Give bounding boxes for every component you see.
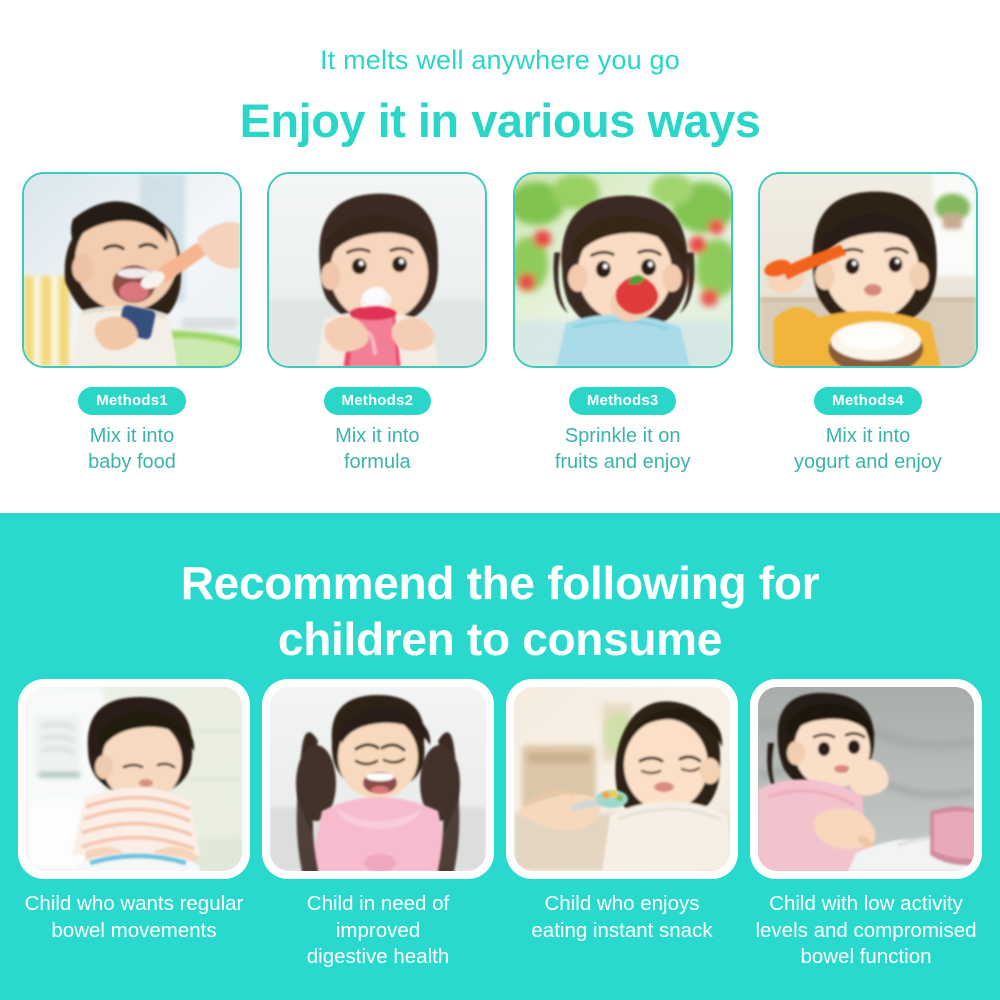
baby-spoon-feeding-illustration	[24, 174, 240, 366]
girl-laptop-couch-illustration	[758, 687, 974, 871]
crying-girl-illustration	[270, 687, 486, 871]
reco-caption-1: Child who wants regular bowel movements	[25, 891, 244, 944]
reco-photo-frame-4	[750, 679, 982, 879]
reco-caption-3: Child who enjoys eating instant snack	[531, 891, 712, 944]
child-yogurt-illustration	[760, 174, 976, 366]
method-photo-4	[760, 174, 976, 366]
methods-row: Methods1 Mix it into baby food	[0, 172, 1000, 475]
reco-caption-2: Child in need of improved digestive heal…	[262, 891, 494, 971]
method-caption-3: Sprinkle it on fruits and enjoy	[555, 424, 691, 475]
recommendation-row: Child who wants regular bowel movements	[0, 679, 1000, 971]
promo-page: It melts well anywhere you go Enjoy it i…	[0, 0, 1000, 1000]
reco-photo-frame-1	[18, 679, 250, 879]
method-card-2[interactable]: Methods2 Mix it into formula	[267, 172, 487, 475]
method-card-1[interactable]: Methods1 Mix it into baby food	[22, 172, 242, 475]
reco-card-2[interactable]: Child in need of improved digestive heal…	[262, 679, 494, 971]
method-caption-2: Mix it into formula	[335, 424, 419, 475]
reco-photo-4	[758, 687, 974, 871]
toddler-bottle-illustration	[269, 174, 485, 366]
reco-photo-frame-2	[262, 679, 494, 879]
method-badge-2: Methods2	[324, 387, 432, 415]
reco-card-1[interactable]: Child who wants regular bowel movements	[18, 679, 250, 971]
method-photo-3	[515, 174, 731, 366]
reco-photo-1	[26, 687, 242, 871]
reco-photo-2	[270, 687, 486, 871]
method-photo-2	[269, 174, 485, 366]
child-strawberry-illustration	[515, 174, 731, 366]
method-caption-1: Mix it into baby food	[88, 424, 176, 475]
page-title: Enjoy it in various ways	[0, 93, 1000, 148]
method-photo-frame-4	[758, 172, 978, 368]
method-badge-1: Methods1	[78, 387, 186, 415]
reco-photo-3	[514, 687, 730, 871]
recommendation-section: Recommend the following for children to …	[0, 513, 1000, 1000]
method-badge-4: Methods4	[814, 387, 922, 415]
method-badge-3: Methods3	[569, 387, 677, 415]
method-caption-4: Mix it into yogurt and enjoy	[794, 424, 942, 475]
recommendation-title: Recommend the following for children to …	[0, 555, 1000, 667]
reco-card-3[interactable]: Child who enjoys eating instant snack	[506, 679, 738, 971]
method-card-4[interactable]: Methods4 Mix it into yogurt and enjoy	[758, 172, 978, 475]
reco-card-4[interactable]: Child with low activity levels and compr…	[750, 679, 982, 971]
method-card-3[interactable]: Methods3 Sprinkle it on fruits and enjoy	[513, 172, 733, 475]
methods-section: It melts well anywhere you go Enjoy it i…	[0, 0, 1000, 513]
method-photo-1	[24, 174, 240, 366]
reco-photo-frame-3	[506, 679, 738, 879]
method-photo-frame-2	[267, 172, 487, 368]
reco-caption-4: Child with low activity levels and compr…	[755, 891, 976, 971]
eyebrow-text: It melts well anywhere you go	[0, 45, 1000, 76]
method-photo-frame-3	[513, 172, 733, 368]
method-photo-frame-1	[22, 172, 242, 368]
toddler-potty-illustration	[26, 687, 242, 871]
boy-eating-snack-illustration	[514, 687, 730, 871]
